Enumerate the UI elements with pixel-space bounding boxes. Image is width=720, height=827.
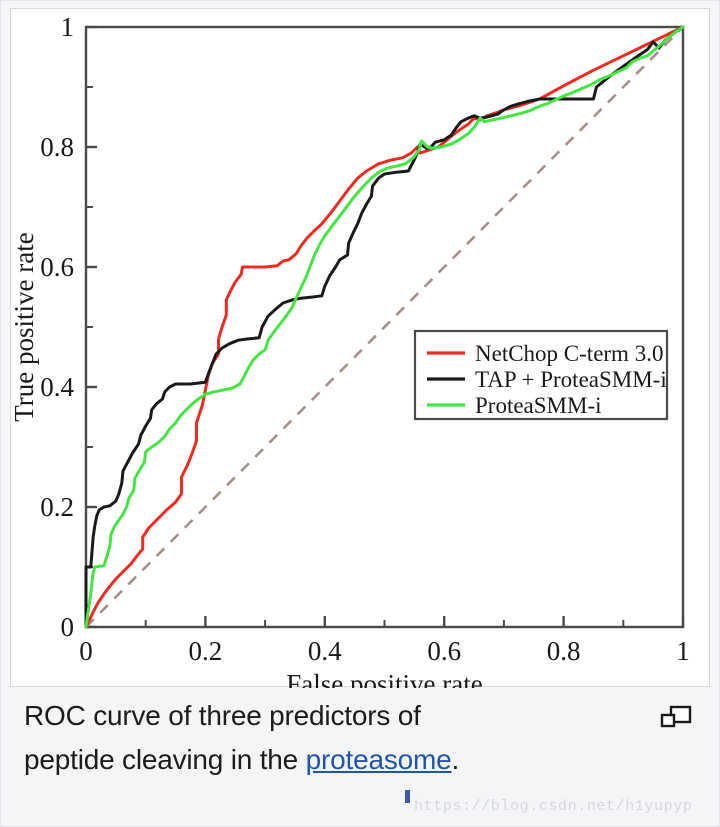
x-tick-label: 1: [676, 636, 690, 666]
figure-card: 00.20.40.60.8100.20.40.60.81False positi…: [10, 8, 710, 687]
caption-line-2-suffix: .: [452, 744, 460, 775]
legend-label: TAP + ProteaSMM-i: [475, 367, 667, 392]
y-tick-label: 0.4: [40, 372, 74, 402]
y-tick-label: 0.8: [40, 132, 74, 162]
x-tick-label: 0.8: [547, 636, 581, 666]
y-tick-label: 1: [61, 12, 75, 42]
roc-chart: 00.20.40.60.8100.20.40.60.81False positi…: [11, 9, 711, 688]
caption-area: ROC curve of three predictors of peptide…: [10, 692, 710, 792]
caption-line-2-prefix: peptide cleaving in the: [24, 744, 306, 775]
x-tick-label: 0.6: [427, 636, 461, 666]
x-tick-label: 0.2: [189, 636, 223, 666]
roc-chart-svg: 00.20.40.60.8100.20.40.60.81False positi…: [11, 9, 711, 688]
legend-label: ProteaSMM-i: [475, 393, 602, 418]
y-tick-label: 0.6: [40, 252, 74, 282]
x-axis-label: False positive rate: [286, 669, 482, 688]
figure-caption: ROC curve of three predictors of peptide…: [24, 694, 584, 782]
legend-label: NetChop C-term 3.0: [475, 341, 663, 366]
caption-line-1: ROC curve of three predictors of: [24, 700, 421, 731]
x-tick-label: 0: [79, 636, 93, 666]
watermark-marker: [405, 790, 410, 803]
site-watermark: https://blog.csdn.net/h1yupyp: [414, 798, 692, 815]
proteasome-link[interactable]: proteasome: [306, 744, 452, 775]
y-tick-label: 0: [61, 612, 75, 642]
y-axis-label: True positive rate: [11, 232, 39, 421]
x-tick-label: 0.4: [308, 636, 342, 666]
y-tick-label: 0.2: [40, 492, 74, 522]
expand-image-icon[interactable]: [660, 704, 692, 732]
